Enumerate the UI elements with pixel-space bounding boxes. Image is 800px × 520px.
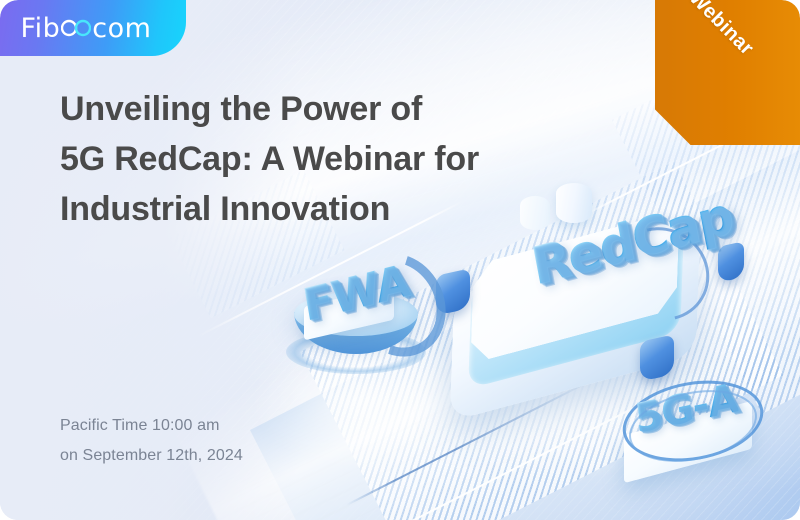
schedule-info: Pacific Time 10:00 am on September 12th,… — [60, 411, 243, 471]
schedule-line-date: on September 12th, 2024 — [60, 441, 243, 471]
fibocom-logo-badge[interactable]: Fib com — [0, 0, 186, 56]
fibocom-wordmark: Fib com — [21, 15, 166, 42]
headline-line-3: Industrial Innovation — [60, 184, 530, 234]
webinar-ribbon: Webinar — [655, 0, 800, 145]
logo-text-fib: Fib — [21, 15, 61, 42]
logo-infinity-icon — [61, 17, 91, 39]
headline-line-2: 5G RedCap: A Webinar for — [60, 134, 530, 184]
headline-line-1: Unveiling the Power of — [60, 84, 530, 134]
logo-text-com: com — [92, 15, 151, 42]
webinar-banner: RedCap FWA 5G-A Fib com Webin — [0, 0, 800, 520]
chip-cylinder — [556, 183, 592, 223]
page-title: Unveiling the Power of 5G RedCap: A Webi… — [60, 84, 530, 234]
schedule-line-time: Pacific Time 10:00 am — [60, 411, 243, 441]
